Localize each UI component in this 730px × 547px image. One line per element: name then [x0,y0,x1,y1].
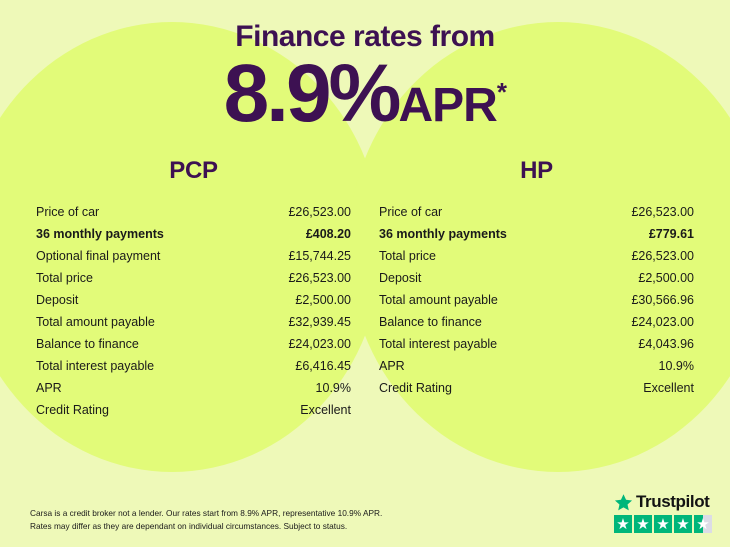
row-value: £26,523.00 [247,201,351,223]
trustpilot-star-filled: ★ [674,515,692,533]
table-row: Deposit£2,500.00 [379,267,694,289]
trustpilot-wordmark: Trustpilot [614,492,709,512]
plan-title-pcp: PCP [36,157,351,185]
table-row: Credit RatingExcellent [36,399,351,421]
star-icon: ★ [676,517,689,532]
table-row: Optional final payment£15,744.25 [36,245,351,267]
row-label: Deposit [36,289,247,311]
row-label: Total amount payable [379,289,590,311]
trustpilot-name: Trustpilot [636,492,709,512]
table-row: Price of car£26,523.00 [36,201,351,223]
row-label: Deposit [379,267,590,289]
trustpilot-star-filled: ★ [654,515,672,533]
table-row: Total interest payable£6,416.45 [36,355,351,377]
rate-table-pcp: Price of car£26,523.0036 monthly payment… [36,201,351,421]
row-value: £30,566.96 [590,289,694,311]
trustpilot-star-filled: ★ [634,515,652,533]
row-label: Total amount payable [36,311,247,333]
table-row: Total amount payable£30,566.96 [379,289,694,311]
table-row: Total price£26,523.00 [379,245,694,267]
row-label: Credit Rating [379,377,590,399]
row-label: Total price [36,267,247,289]
table-row: Total interest payable£4,043.96 [379,333,694,355]
apr-label: APR [398,79,496,132]
plan-column-pcp: PCP Price of car£26,523.0036 monthly pay… [22,157,365,421]
trustpilot-star-rating: ★★★★★ [614,515,712,533]
row-label: Credit Rating [36,399,247,421]
table-row: APR10.9% [379,355,694,377]
apr-rate-value: 8.9% [224,48,399,139]
row-value: 10.9% [590,355,694,377]
star-icon: ★ [616,517,629,532]
row-label: APR [36,377,247,399]
plan-column-hp: HP Price of car£26,523.0036 monthly paym… [365,157,708,421]
row-label: APR [379,355,590,377]
row-value: £2,500.00 [590,267,694,289]
trustpilot-star-filled: ★ [614,515,632,533]
row-value: £4,043.96 [590,333,694,355]
trustpilot-star-half: ★ [694,515,712,533]
row-value: £2,500.00 [247,289,351,311]
row-label: Balance to finance [379,311,590,333]
apr-headline: 8.9%APR* [0,55,730,133]
star-icon: ★ [696,517,709,532]
table-row: 36 monthly payments£779.61 [379,223,694,245]
row-value: £6,416.45 [247,355,351,377]
disclaimer-text: Carsa is a credit broker not a lender. O… [30,507,382,533]
table-row: Total price£26,523.00 [36,267,351,289]
finance-comparison: PCP Price of car£26,523.0036 monthly pay… [0,157,730,421]
row-label: 36 monthly payments [379,223,590,245]
row-value: £24,023.00 [247,333,351,355]
disclaimer-line-2: Rates may differ as they are dependant o… [30,520,382,533]
row-label: Optional final payment [36,245,247,267]
row-value: £26,523.00 [590,201,694,223]
table-row: 36 monthly payments£408.20 [36,223,351,245]
table-row: Credit RatingExcellent [379,377,694,399]
apr-asterisk: * [497,77,507,107]
row-value: £26,523.00 [590,245,694,267]
table-row: Deposit£2,500.00 [36,289,351,311]
footer: Carsa is a credit broker not a lender. O… [0,485,730,547]
row-label: Price of car [379,201,590,223]
row-value: £32,939.45 [247,311,351,333]
star-icon: ★ [656,517,669,532]
row-value: 10.9% [247,377,351,399]
trustpilot-rating[interactable]: Trustpilot ★★★★★ [614,492,712,533]
row-value: Excellent [590,377,694,399]
row-label: 36 monthly payments [36,223,247,245]
row-value: £26,523.00 [247,267,351,289]
row-value: £408.20 [247,223,351,245]
promo-card: Finance rates from 8.9%APR* PCP Price of… [0,0,730,547]
table-row: APR10.9% [36,377,351,399]
row-label: Total price [379,245,590,267]
row-value: £24,023.00 [590,311,694,333]
row-label: Total interest payable [36,355,247,377]
star-icon: ★ [636,517,649,532]
table-row: Balance to finance£24,023.00 [379,311,694,333]
row-value: £779.61 [590,223,694,245]
page-title: Finance rates from [0,0,730,53]
row-label: Total interest payable [379,333,590,355]
row-label: Price of car [36,201,247,223]
row-value: £15,744.25 [247,245,351,267]
row-value: Excellent [247,399,351,421]
trustpilot-star-icon [614,493,633,512]
table-row: Price of car£26,523.00 [379,201,694,223]
table-row: Balance to finance£24,023.00 [36,333,351,355]
plan-title-hp: HP [379,157,694,185]
rate-table-hp: Price of car£26,523.0036 monthly payment… [379,201,694,399]
row-label: Balance to finance [36,333,247,355]
disclaimer-line-1: Carsa is a credit broker not a lender. O… [30,507,382,520]
table-row: Total amount payable£32,939.45 [36,311,351,333]
